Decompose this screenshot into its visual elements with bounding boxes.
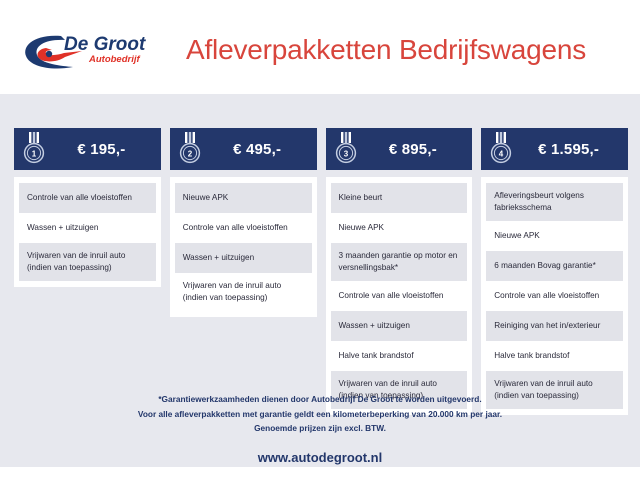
footer-note-3: Genoemde prijzen zijn excl. BTW. <box>0 421 640 436</box>
list-item: Nieuwe APK <box>331 213 468 243</box>
website-url[interactable]: www.autodegroot.nl <box>0 450 640 465</box>
package-card-3: 3 € 895,- Kleine beurt Nieuwe APK 3 maan… <box>326 128 473 415</box>
medal-icon: 4 <box>489 132 513 166</box>
package-items-4: Afleveringsbeurt volgens fabrieksschema … <box>481 177 628 415</box>
package-price-3: € 895,- <box>360 141 467 158</box>
list-item: Wassen + uitzuigen <box>19 213 156 243</box>
medal-icon: 2 <box>178 132 202 166</box>
package-header-3: 3 € 895,- <box>326 128 473 170</box>
medal-number: 2 <box>188 149 193 158</box>
list-item: Halve tank brandstof <box>486 341 623 371</box>
package-price-4: € 1.595,- <box>515 141 622 158</box>
list-item: Controle van alle vloeistoffen <box>19 183 156 213</box>
package-columns: 1 € 195,- Controle van alle vloeistoffen… <box>14 128 628 415</box>
medal-icon: 1 <box>22 132 46 166</box>
list-item: Controle van alle vloeistoffen <box>175 213 312 243</box>
list-item: 3 maanden garantie op motor en versnelli… <box>331 243 468 281</box>
list-item: 6 maanden Bovag garantie* <box>486 251 623 281</box>
page-header: De Groot Autobedrijf Afleverpakketten Be… <box>0 0 640 94</box>
list-item: Vrijwaren van de inruil auto (indien van… <box>175 273 312 311</box>
list-item: Nieuwe APK <box>486 221 623 251</box>
list-item: Afleveringsbeurt volgens fabrieksschema <box>486 183 623 221</box>
svg-text:De Groot: De Groot <box>64 34 146 55</box>
medal-icon: 3 <box>334 132 358 166</box>
svg-text:Autobedrijf: Autobedrijf <box>88 54 140 65</box>
package-items-2: Nieuwe APK Controle van alle vloeistoffe… <box>170 177 317 317</box>
package-card-4: 4 € 1.595,- Afleveringsbeurt volgens fab… <box>481 128 628 415</box>
package-price-2: € 495,- <box>204 141 311 158</box>
medal-number: 1 <box>32 149 37 158</box>
list-item: Halve tank brandstof <box>331 341 468 371</box>
package-items-1: Controle van alle vloeistoffen Wassen + … <box>14 177 161 287</box>
footer: *Garantiewerkzaamheden dienen door Autob… <box>0 392 640 465</box>
footer-note-2: Voor alle afleverpakketten met garantie … <box>0 407 640 422</box>
page-title: Afleverpakketten Bedrijfswagens <box>186 34 586 66</box>
list-item: Kleine beurt <box>331 183 468 213</box>
medal-number: 4 <box>499 149 504 158</box>
package-items-3: Kleine beurt Nieuwe APK 3 maanden garant… <box>326 177 473 415</box>
logo-svg: De Groot Autobedrijf <box>18 26 168 74</box>
list-item: Controle van alle vloeistoffen <box>331 281 468 311</box>
list-item: Controle van alle vloeistoffen <box>486 281 623 311</box>
poster-page: De Groot Autobedrijf Afleverpakketten Be… <box>0 0 640 480</box>
list-item: Wassen + uitzuigen <box>331 311 468 341</box>
medal-number: 3 <box>343 149 348 158</box>
package-header-4: 4 € 1.595,- <box>481 128 628 170</box>
package-header-1: 1 € 195,- <box>14 128 161 170</box>
list-item: Wassen + uitzuigen <box>175 243 312 273</box>
package-header-2: 2 € 495,- <box>170 128 317 170</box>
list-item: Reiniging van het in/exterieur <box>486 311 623 341</box>
list-item: Nieuwe APK <box>175 183 312 213</box>
package-price-1: € 195,- <box>48 141 155 158</box>
footer-note-1: *Garantiewerkzaamheden dienen door Autob… <box>0 392 640 407</box>
company-logo[interactable]: De Groot Autobedrijf <box>18 26 168 74</box>
package-card-1: 1 € 195,- Controle van alle vloeistoffen… <box>14 128 161 287</box>
list-item: Vrijwaren van de inruil auto (indien van… <box>19 243 156 281</box>
package-card-2: 2 € 495,- Nieuwe APK Controle van alle v… <box>170 128 317 317</box>
